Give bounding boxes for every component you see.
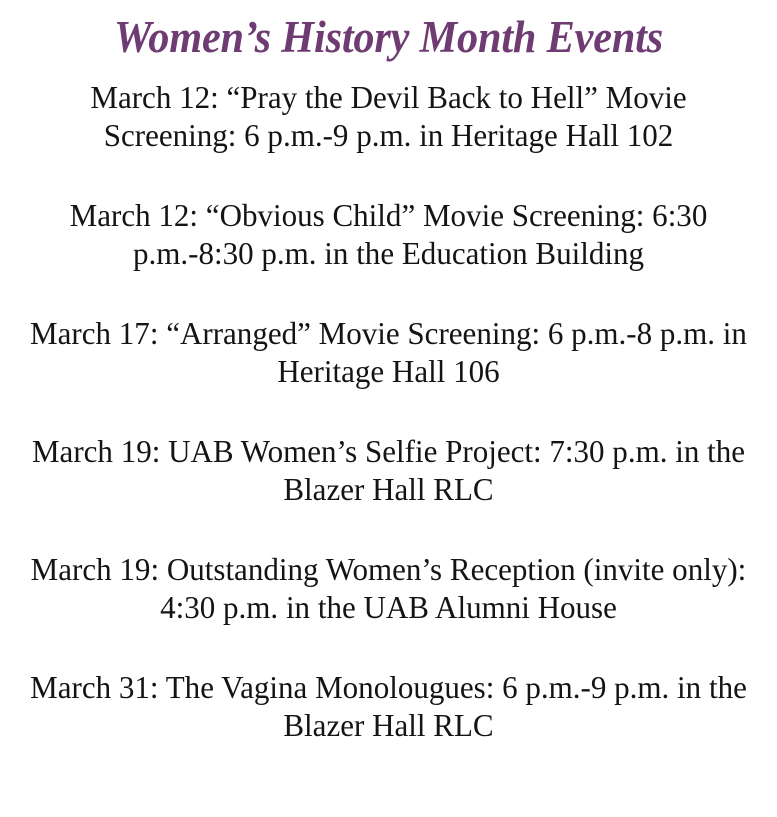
list-item: March 31: The Vagina Monolougues: 6 p.m.…	[6, 669, 771, 745]
list-item: March 19: Outstanding Women’s Reception …	[6, 551, 771, 627]
events-list: March 12: “Pray the Devil Back to Hell” …	[0, 63, 777, 745]
page-title: Women’s History Month Events	[23, 0, 753, 63]
list-item: March 12: “Obvious Child” Movie Screenin…	[6, 197, 771, 273]
list-item: March 12: “Pray the Devil Back to Hell” …	[6, 79, 771, 155]
list-item: March 17: “Arranged” Movie Screening: 6 …	[6, 315, 771, 391]
flyer-page: Women’s History Month Events March 12: “…	[0, 0, 777, 817]
list-item: March 19: UAB Women’s Selfie Project: 7:…	[6, 433, 771, 509]
